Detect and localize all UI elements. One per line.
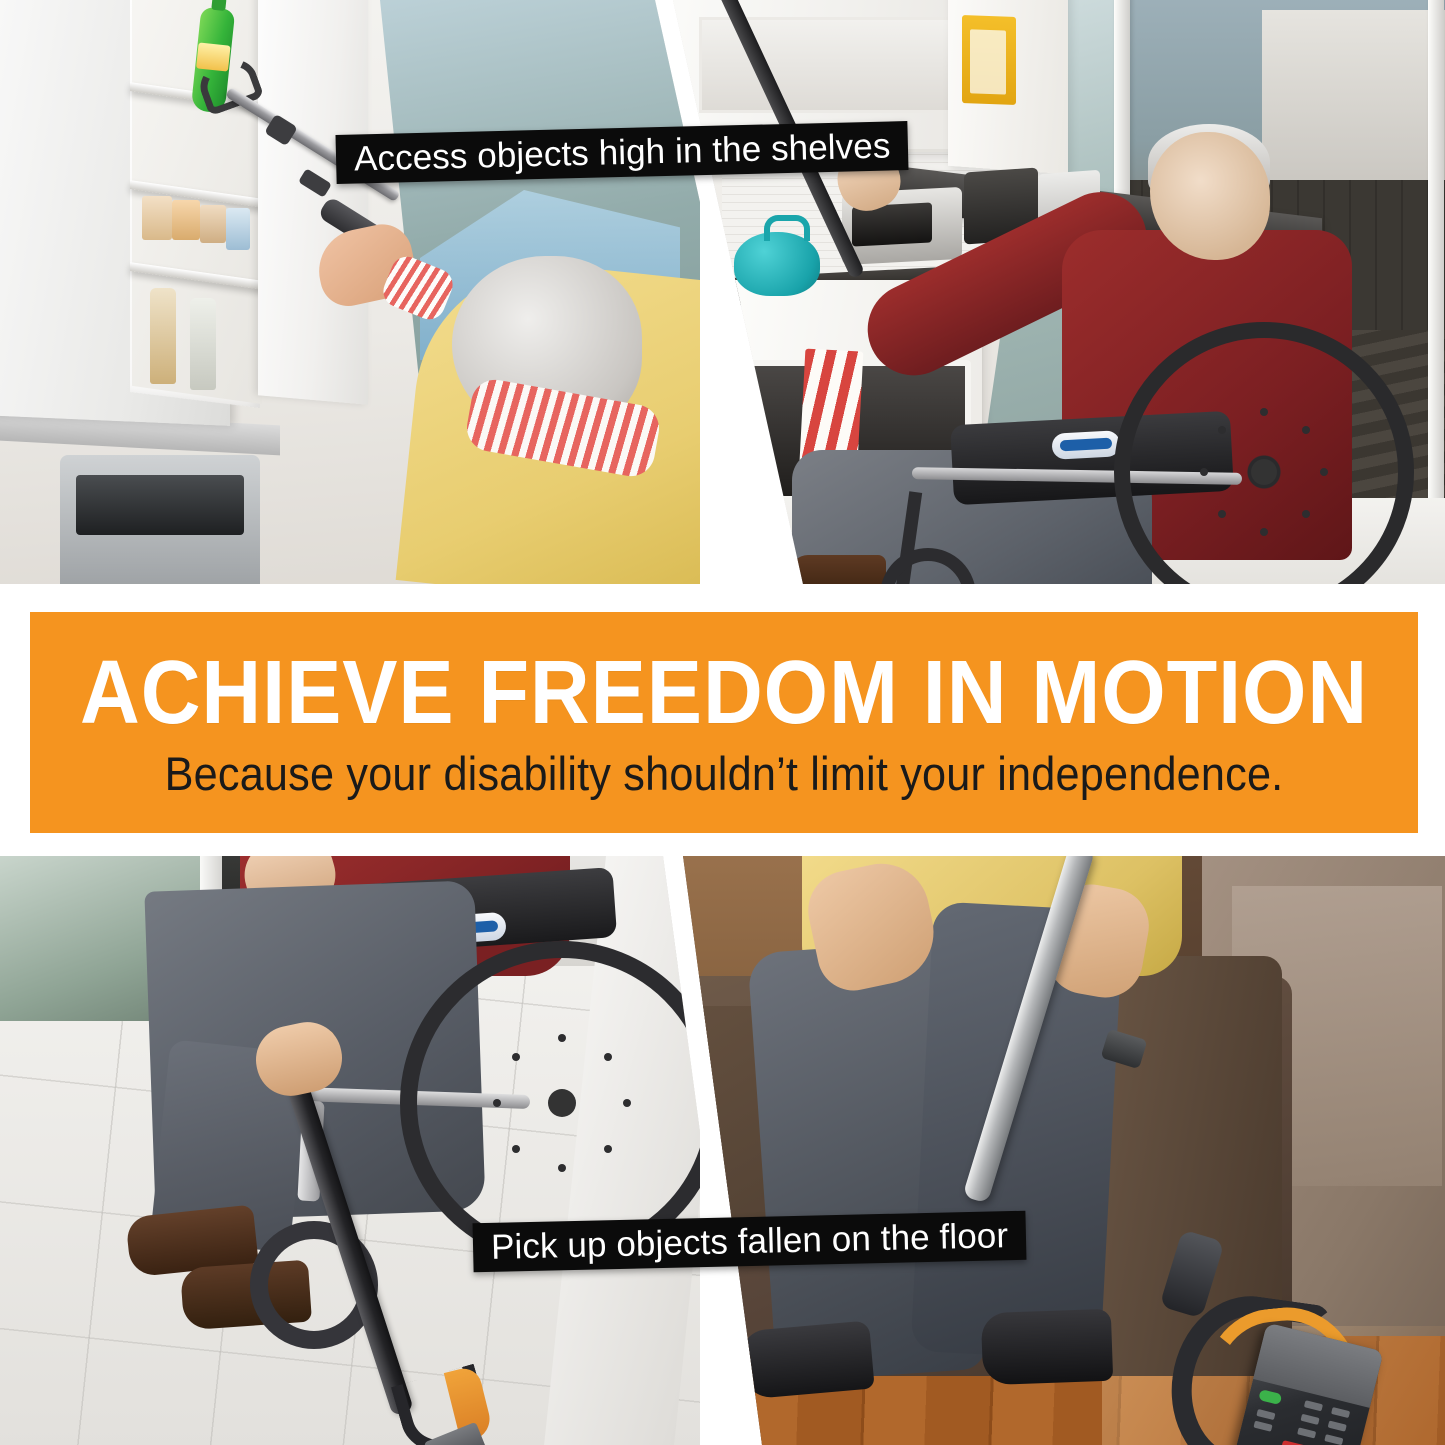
panel-bottom-right (672, 856, 1445, 1445)
canned-goods (200, 205, 226, 243)
banner-title: ACHIEVE FREEDOM IN MOTION (80, 648, 1368, 738)
remote-button (1300, 1414, 1319, 1425)
product-feature-collage: Access objects high in the shelves ACHIE… (0, 0, 1445, 1445)
wheelchair-kitchen-scene (662, 0, 1445, 584)
remote-button (1256, 1409, 1275, 1420)
glass-bottle (190, 298, 216, 390)
glass-bottle (150, 288, 176, 384)
boxed-goods (226, 208, 250, 250)
caption-top-text: Access objects high in the shelves (354, 126, 891, 179)
top-photo-row: Access objects high in the shelves (0, 0, 1445, 584)
remote-button (1331, 1407, 1350, 1418)
countertop-appliance (60, 455, 260, 584)
teal-kettle (734, 232, 820, 296)
bottom-photo-row (0, 856, 1445, 1445)
picking-remote-scene (672, 856, 1445, 1445)
wheelchair-brand-badge (1051, 430, 1120, 460)
canned-goods (172, 200, 200, 240)
canned-goods (142, 196, 172, 240)
remote-button (1328, 1421, 1347, 1432)
remote-button (1324, 1434, 1343, 1445)
panel-bottom-left (0, 856, 700, 1445)
cabinet-door-right (258, 0, 368, 405)
black-shoe (981, 1309, 1113, 1385)
remote-power-button (1258, 1389, 1282, 1405)
remote-red-strip (1281, 1440, 1324, 1445)
black-shoe (739, 1320, 874, 1399)
neighbour-house (1262, 10, 1445, 190)
picking-keys-scene (0, 856, 700, 1445)
remote-button (1297, 1427, 1316, 1438)
door-frame-mullion (1428, 0, 1444, 584)
headline-banner: ACHIEVE FREEDOM IN MOTION Because your d… (30, 612, 1418, 833)
first-aid-box (962, 15, 1016, 105)
remote-button (1304, 1400, 1323, 1411)
caption-bottom-text: Pick up objects fallen on the floor (491, 1216, 1009, 1268)
panel-top-right (662, 0, 1445, 584)
kitchen-cabinet-scene (0, 0, 700, 584)
remote-button (1253, 1421, 1272, 1432)
brown-shoe (790, 555, 886, 584)
panel-top-left (0, 0, 700, 584)
banner-subtitle: Because your disability shouldn’t limit … (165, 750, 1284, 797)
